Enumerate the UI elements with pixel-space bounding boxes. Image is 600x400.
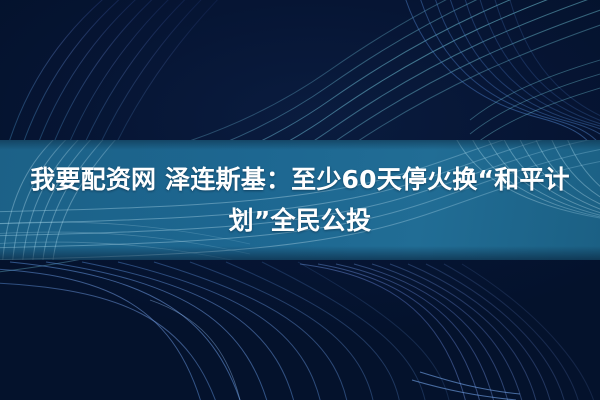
headline-container: 我要配资网 泽连斯基：至少60天停火换“和平计划”全民公投: [0, 140, 600, 260]
banner-image: 我要配资网 泽连斯基：至少60天停火换“和平计划”全民公投: [0, 0, 600, 400]
headline-title: 我要配资网 泽连斯基：至少60天停火换“和平计划”全民公投: [14, 159, 586, 241]
